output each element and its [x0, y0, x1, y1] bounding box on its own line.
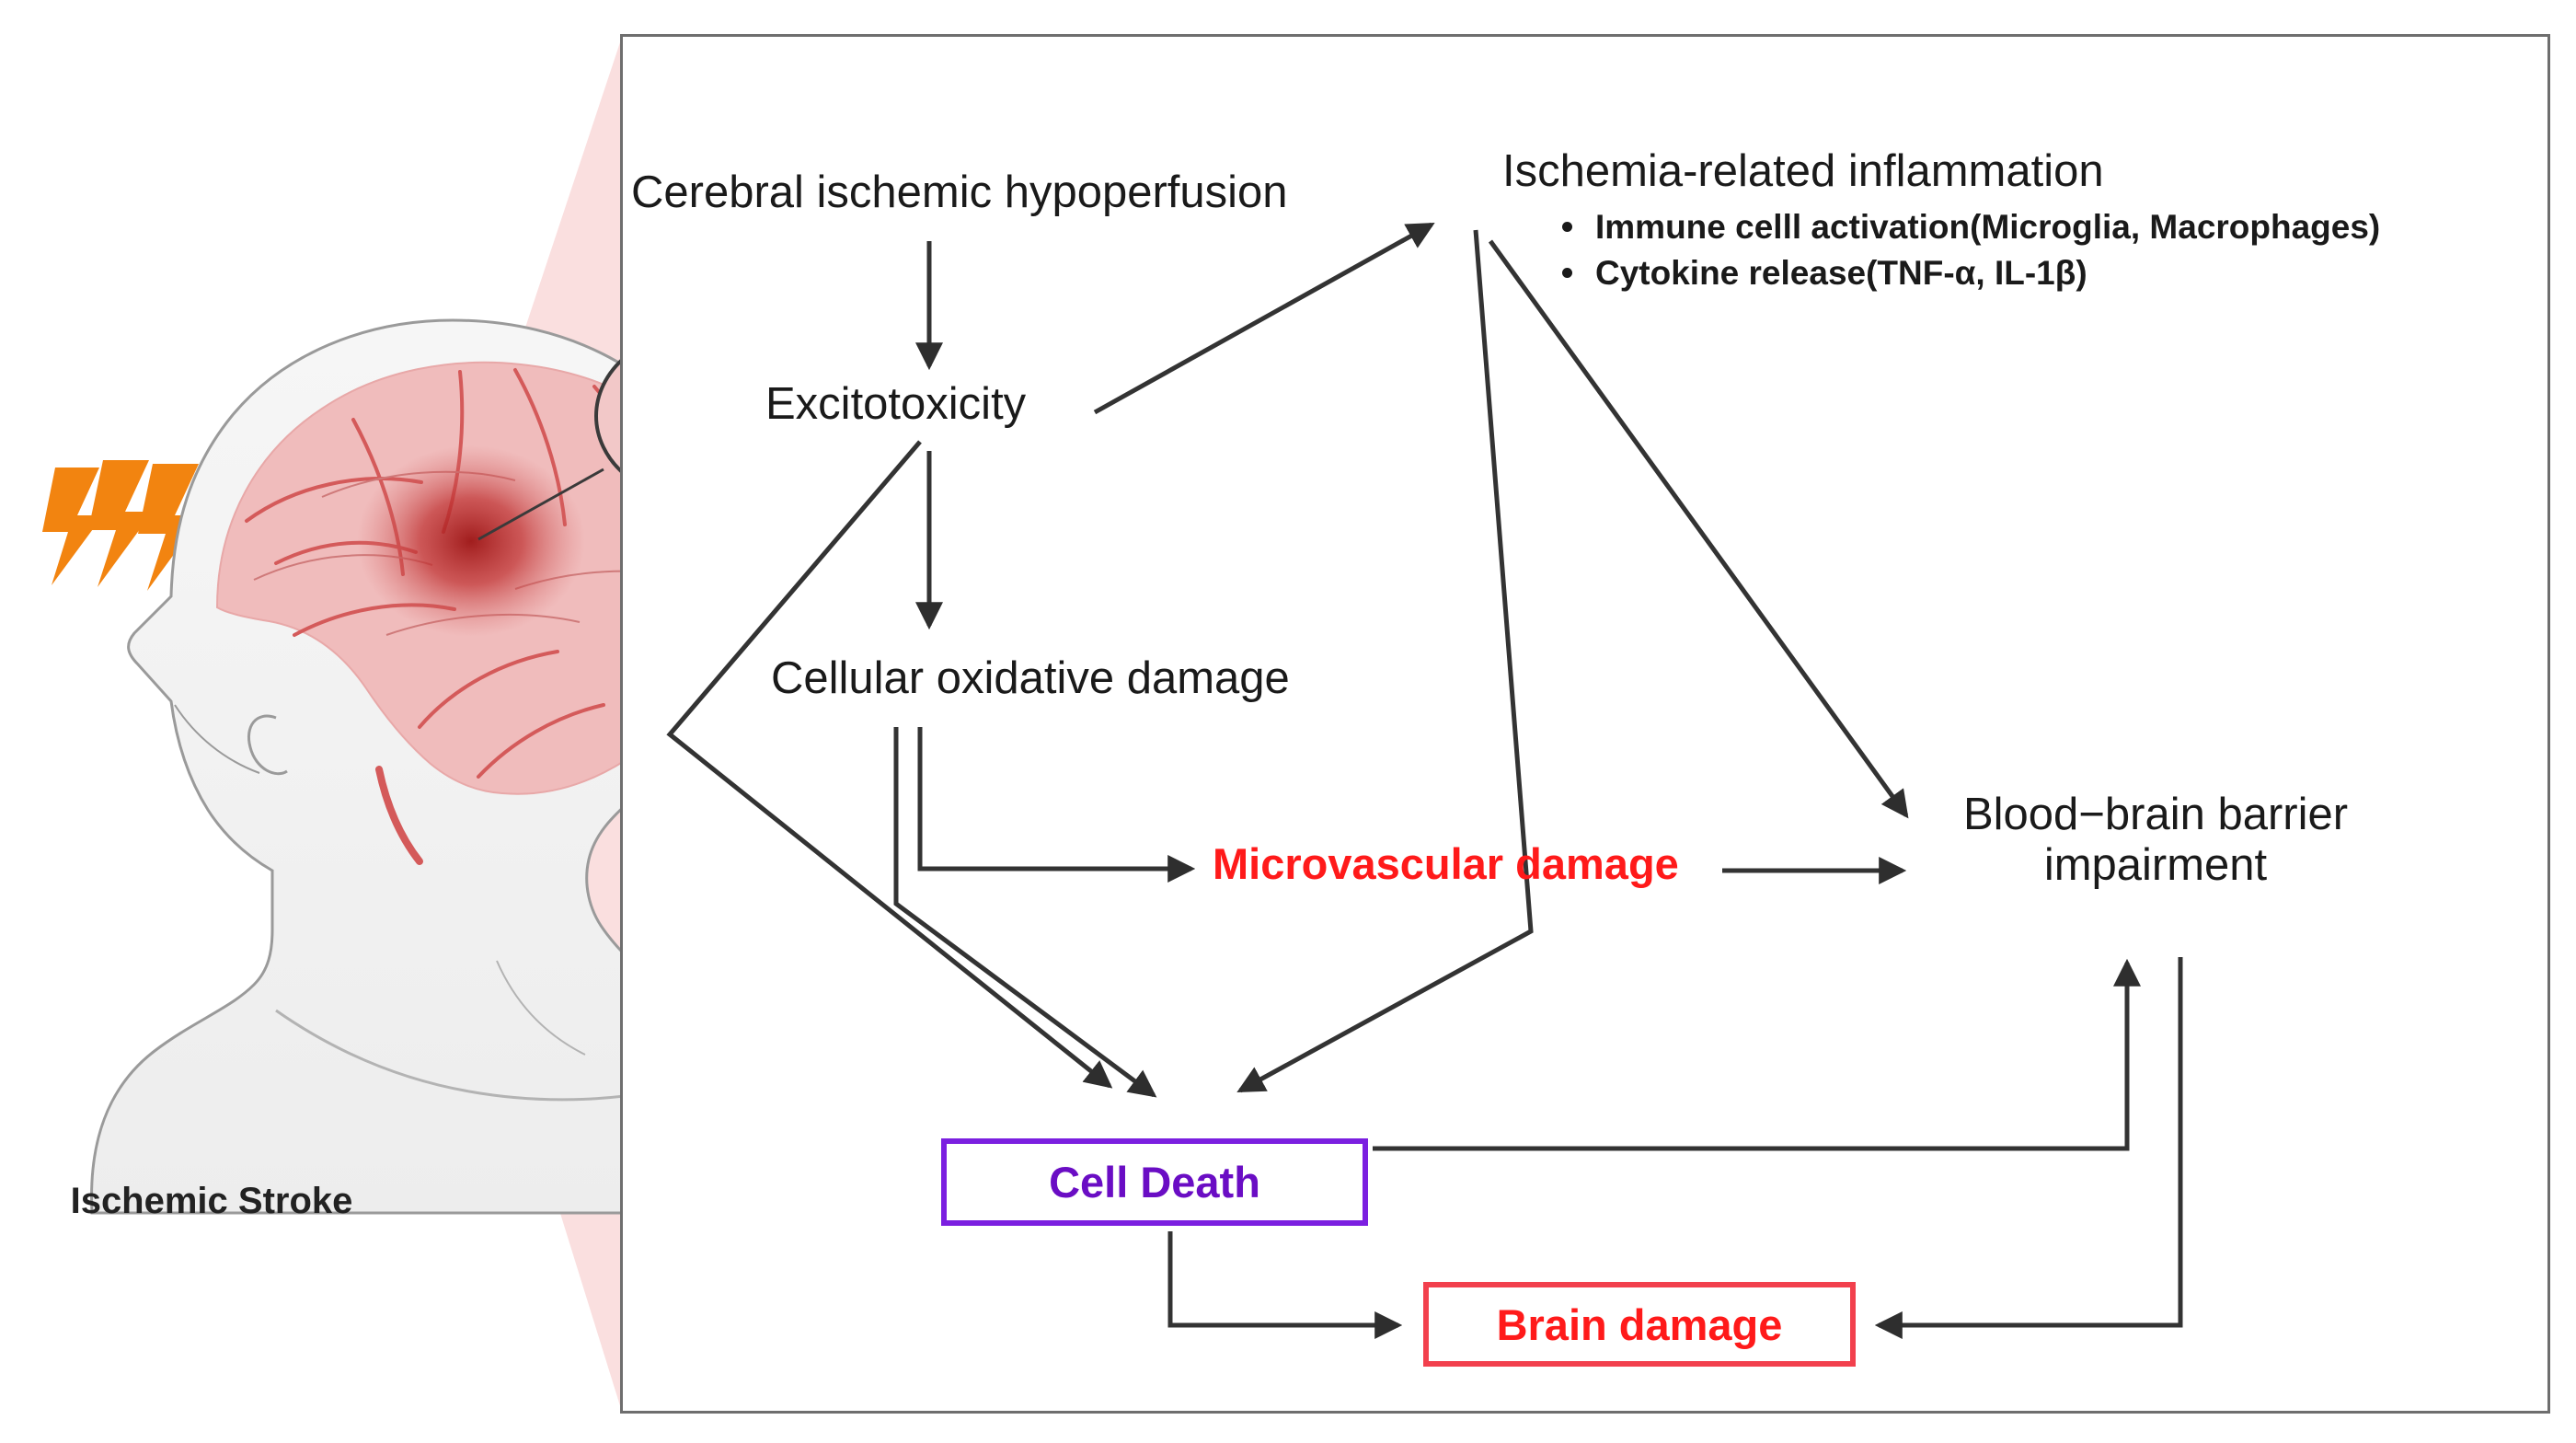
node-inflammation-title: Ischemia-related inflammation [1502, 145, 2104, 197]
bbb-line-1: Blood−brain barrier [1926, 790, 2386, 840]
edge-celldeath-bbb [1373, 963, 2127, 1149]
list-item: Cytokine release(TNF-α, IL-1β) [1555, 250, 2380, 296]
edge-bbb-braindamage [1879, 957, 2180, 1325]
inflammation-bullet-list: Immune celll activation(Microglia, Macro… [1555, 204, 2380, 295]
node-brain-damage: Brain damage [1423, 1282, 1856, 1367]
node-bbb-impairment: Blood−brain barrier impairment [1926, 790, 2386, 891]
figure-root: Cerebral ischemic hypoperfusion Excitoto… [0, 0, 2576, 1443]
cell-death-label: Cell Death [1049, 1157, 1260, 1207]
edge-celldeath-braindamage [1170, 1231, 1398, 1325]
node-cell-death: Cell Death [941, 1138, 1368, 1226]
node-oxidative-damage: Cellular oxidative damage [771, 653, 1290, 704]
edge-oxidative-microvascular [920, 727, 1191, 869]
edge-excitotoxicity-inflammation [1095, 225, 1432, 412]
edge-excitotoxicity-celldeath [670, 442, 1110, 1086]
list-item: Immune celll activation(Microglia, Macro… [1555, 204, 2380, 250]
node-microvascular-damage: Microvascular damage [1213, 838, 1679, 889]
bbb-line-2: impairment [1926, 840, 2386, 891]
brain-damage-label: Brain damage [1497, 1299, 1783, 1350]
illustration-caption: Ischemic Stroke [0, 1181, 423, 1222]
edge-inflammation-bbb [1490, 241, 1906, 815]
edge-oxidative-celldeath [896, 727, 1154, 1095]
node-excitotoxicity: Excitotoxicity [765, 379, 1026, 430]
node-hypoperfusion: Cerebral ischemic hypoperfusion [631, 167, 1288, 218]
